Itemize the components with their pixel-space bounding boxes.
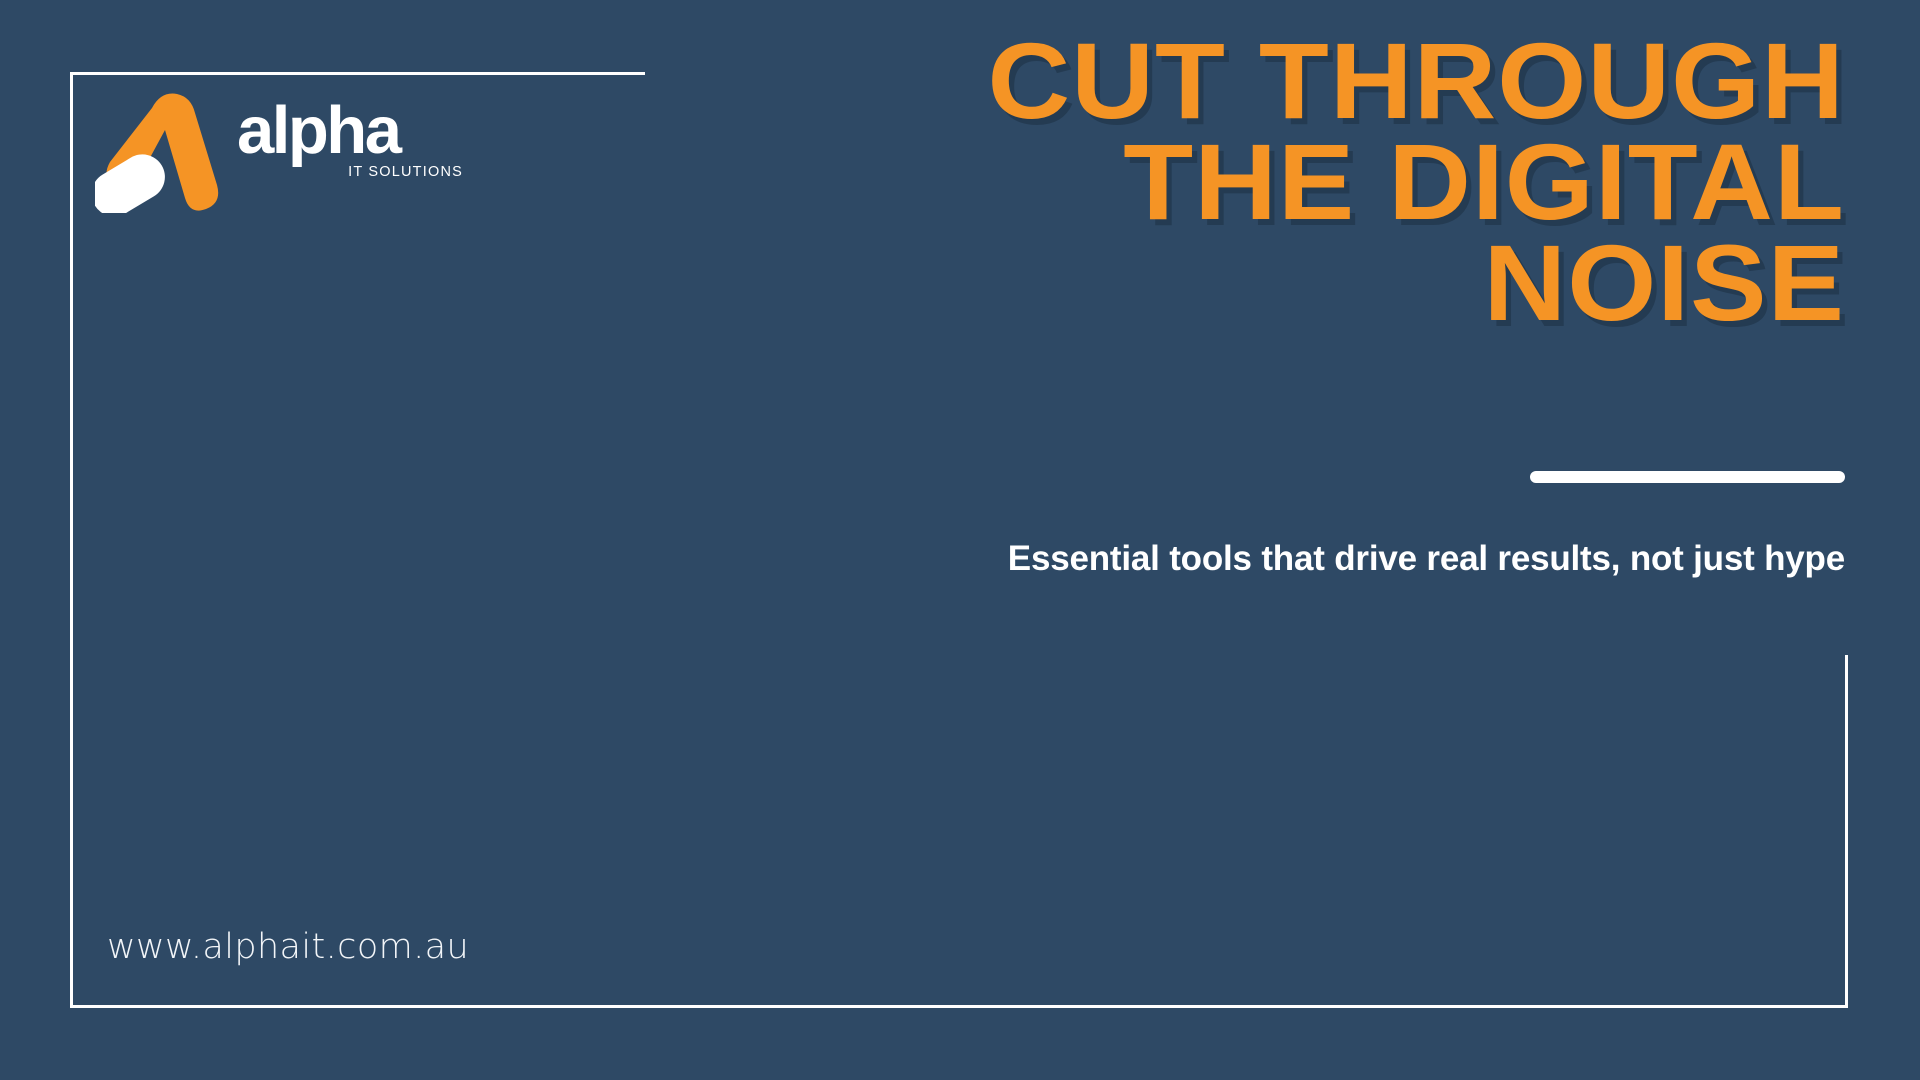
frame-line-bottom xyxy=(70,1005,1848,1008)
divider-bar xyxy=(1530,471,1845,483)
headline: CUT THROUGH THE DIGITAL NOISE xyxy=(735,30,1845,333)
alpha-a-chevron-icon xyxy=(95,88,223,213)
logo-wordmark: alpha IT SOLUTIONS xyxy=(237,100,467,200)
slide-canvas: alpha IT SOLUTIONS CUT THROUGH THE DIGIT… xyxy=(0,0,1920,1080)
logo-lockup: alpha IT SOLUTIONS xyxy=(95,88,475,213)
logo-wordmark-text: alpha xyxy=(237,100,467,162)
subtitle: Essential tools that drive real results,… xyxy=(645,537,1845,581)
headline-line-3: NOISE xyxy=(668,232,1845,333)
frame-line-left xyxy=(70,72,73,1008)
headline-line-2: THE DIGITAL xyxy=(668,131,1845,232)
website-url: www.alphait.com.au xyxy=(107,925,469,969)
frame-line-right xyxy=(1845,655,1848,1008)
headline-line-1: CUT THROUGH xyxy=(668,30,1845,131)
frame-line-top xyxy=(70,72,645,75)
